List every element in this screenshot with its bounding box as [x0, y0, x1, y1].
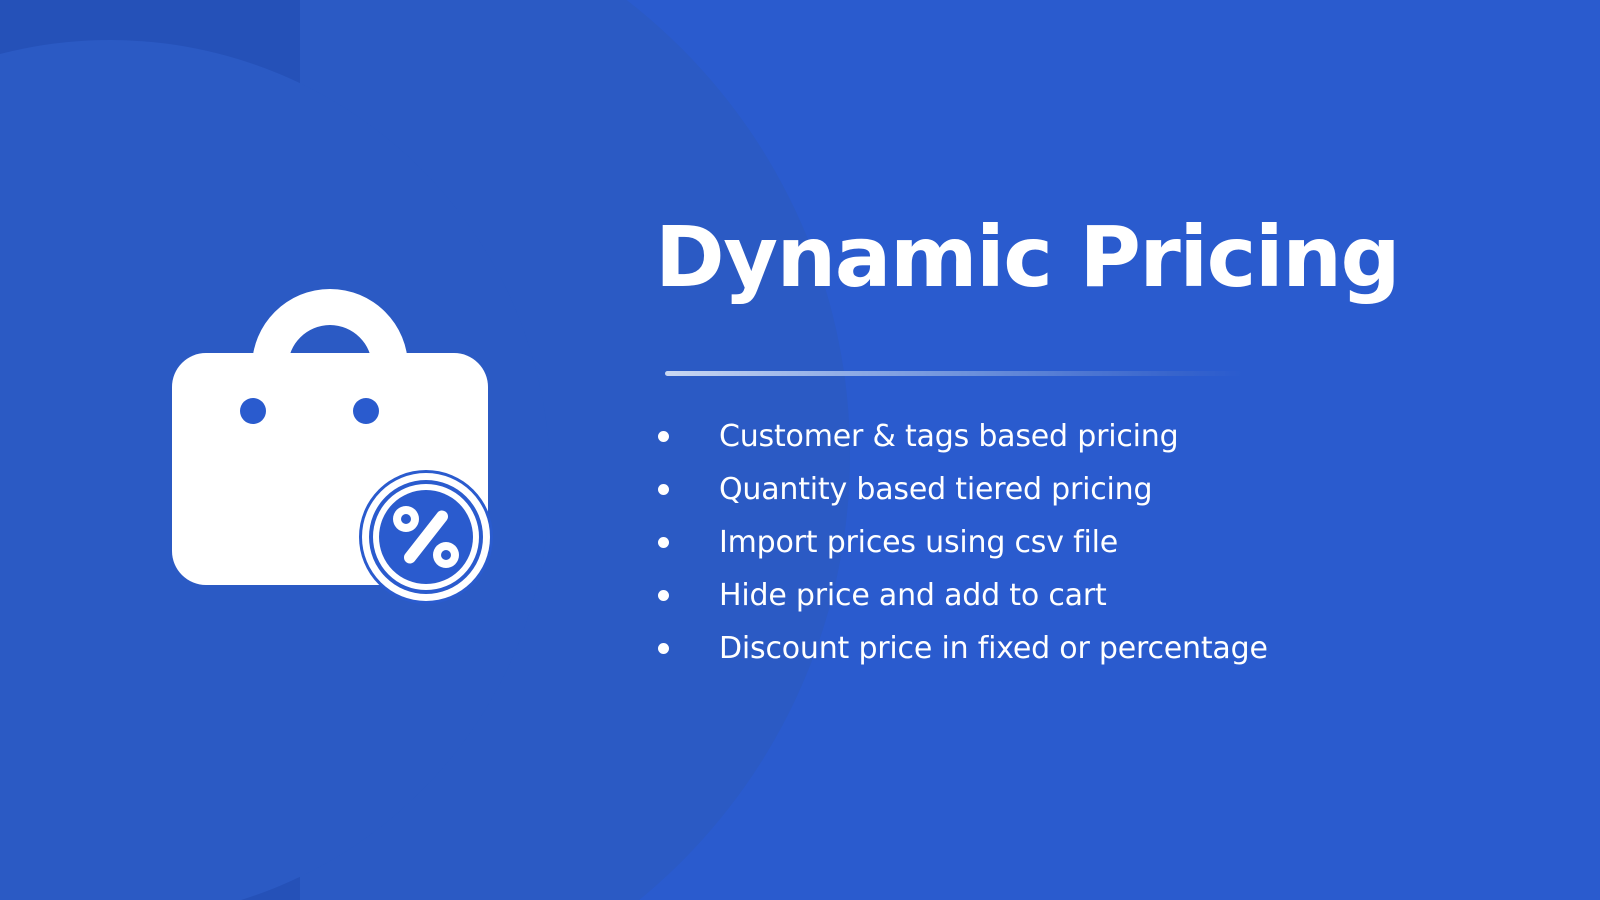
feature-list: Customer & tags based pricing Quantity b… — [655, 410, 1455, 675]
feature-label: Import prices using csv file — [719, 525, 1118, 560]
page-title: Dynamic Pricing — [655, 215, 1455, 299]
title-divider — [665, 371, 1243, 376]
bag-stud-left-dot — [240, 398, 266, 424]
feature-label: Discount price in fixed or percentage — [719, 631, 1268, 666]
promo-slide: Dynamic Pricing Customer & tags based pr… — [0, 0, 1600, 900]
bullet-dot-icon — [658, 431, 669, 442]
shopping-bag-discount-icon — [150, 245, 510, 605]
list-item: Customer & tags based pricing — [655, 410, 1455, 463]
list-item: Quantity based tiered pricing — [655, 463, 1455, 516]
bullet-dot-icon — [658, 484, 669, 495]
feature-label: Hide price and add to cart — [719, 578, 1107, 613]
bullet-dot-icon — [658, 643, 669, 654]
list-item: Import prices using csv file — [655, 516, 1455, 569]
bullet-dot-icon — [658, 537, 669, 548]
feature-label: Quantity based tiered pricing — [719, 472, 1152, 507]
list-item: Hide price and add to cart — [655, 569, 1455, 622]
bullet-dot-icon — [658, 590, 669, 601]
bag-stud-right-dot — [353, 398, 379, 424]
content-column: Dynamic Pricing Customer & tags based pr… — [655, 215, 1455, 675]
list-item: Discount price in fixed or percentage — [655, 622, 1455, 675]
feature-label: Customer & tags based pricing — [719, 419, 1178, 454]
